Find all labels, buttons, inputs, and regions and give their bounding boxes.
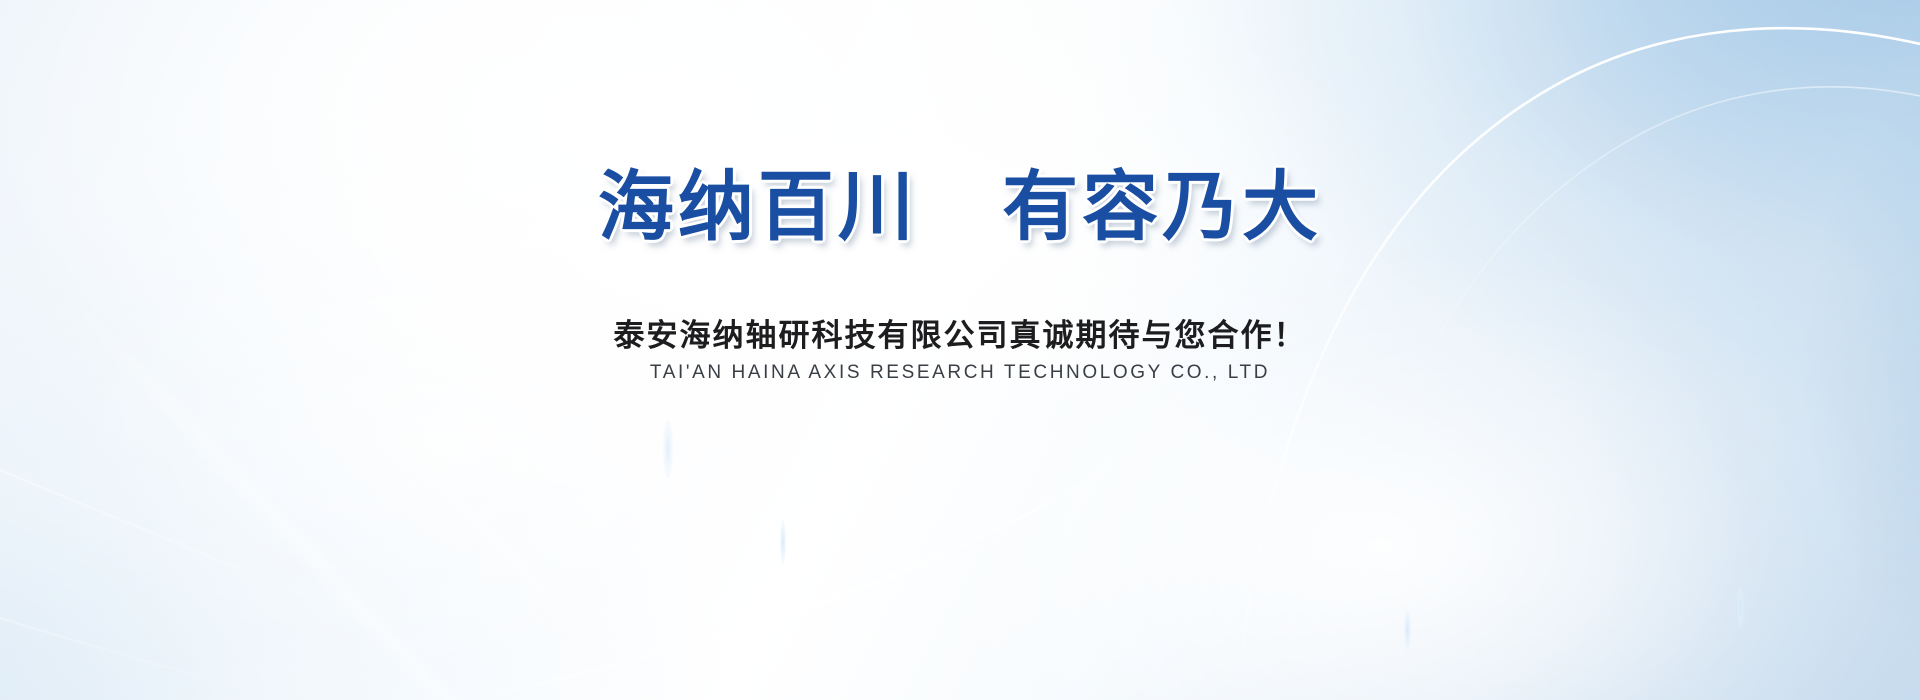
lens-flare-sliver-3 [1737, 585, 1744, 629]
headline-part-2: 有容乃大 [1002, 165, 1322, 250]
background-top-right-blue [0, 0, 1920, 700]
banner-headline: 海纳百川 有容乃大 [0, 170, 1920, 246]
banner-subtitle-english: TAI'AN HAINA AXIS RESEARCH TECHNOLOGY CO… [0, 362, 1920, 384]
background-bottom-left-tint [0, 0, 1920, 700]
lens-flare-sliver-1 [780, 520, 786, 564]
background-headline-halo [0, 0, 1920, 700]
background-base-gradient [0, 0, 1920, 700]
background-lower-glow [0, 0, 1920, 700]
lens-flare-sliver-2 [1404, 610, 1411, 650]
lens-flare-sliver-4 [663, 420, 673, 478]
banner-subtitle-chinese: 泰安海纳轴研科技有限公司真诚期待与您合作！ [0, 310, 1920, 355]
background-light-streaks [0, 0, 1920, 700]
background-light-burst-glow [0, 0, 1920, 700]
headline-part-1: 海纳百川 [598, 165, 918, 250]
background-right-edge-blue [0, 0, 1920, 700]
background-center-left-glow [0, 0, 1920, 700]
banner-content: 海纳百川 有容乃大 泰安海纳轴研科技有限公司真诚期待与您合作！ TAI'AN H… [0, 0, 1920, 700]
hero-banner: 海纳百川 有容乃大 泰安海纳轴研科技有限公司真诚期待与您合作！ TAI'AN H… [0, 0, 1920, 700]
decorative-arcs [0, 0, 1920, 700]
